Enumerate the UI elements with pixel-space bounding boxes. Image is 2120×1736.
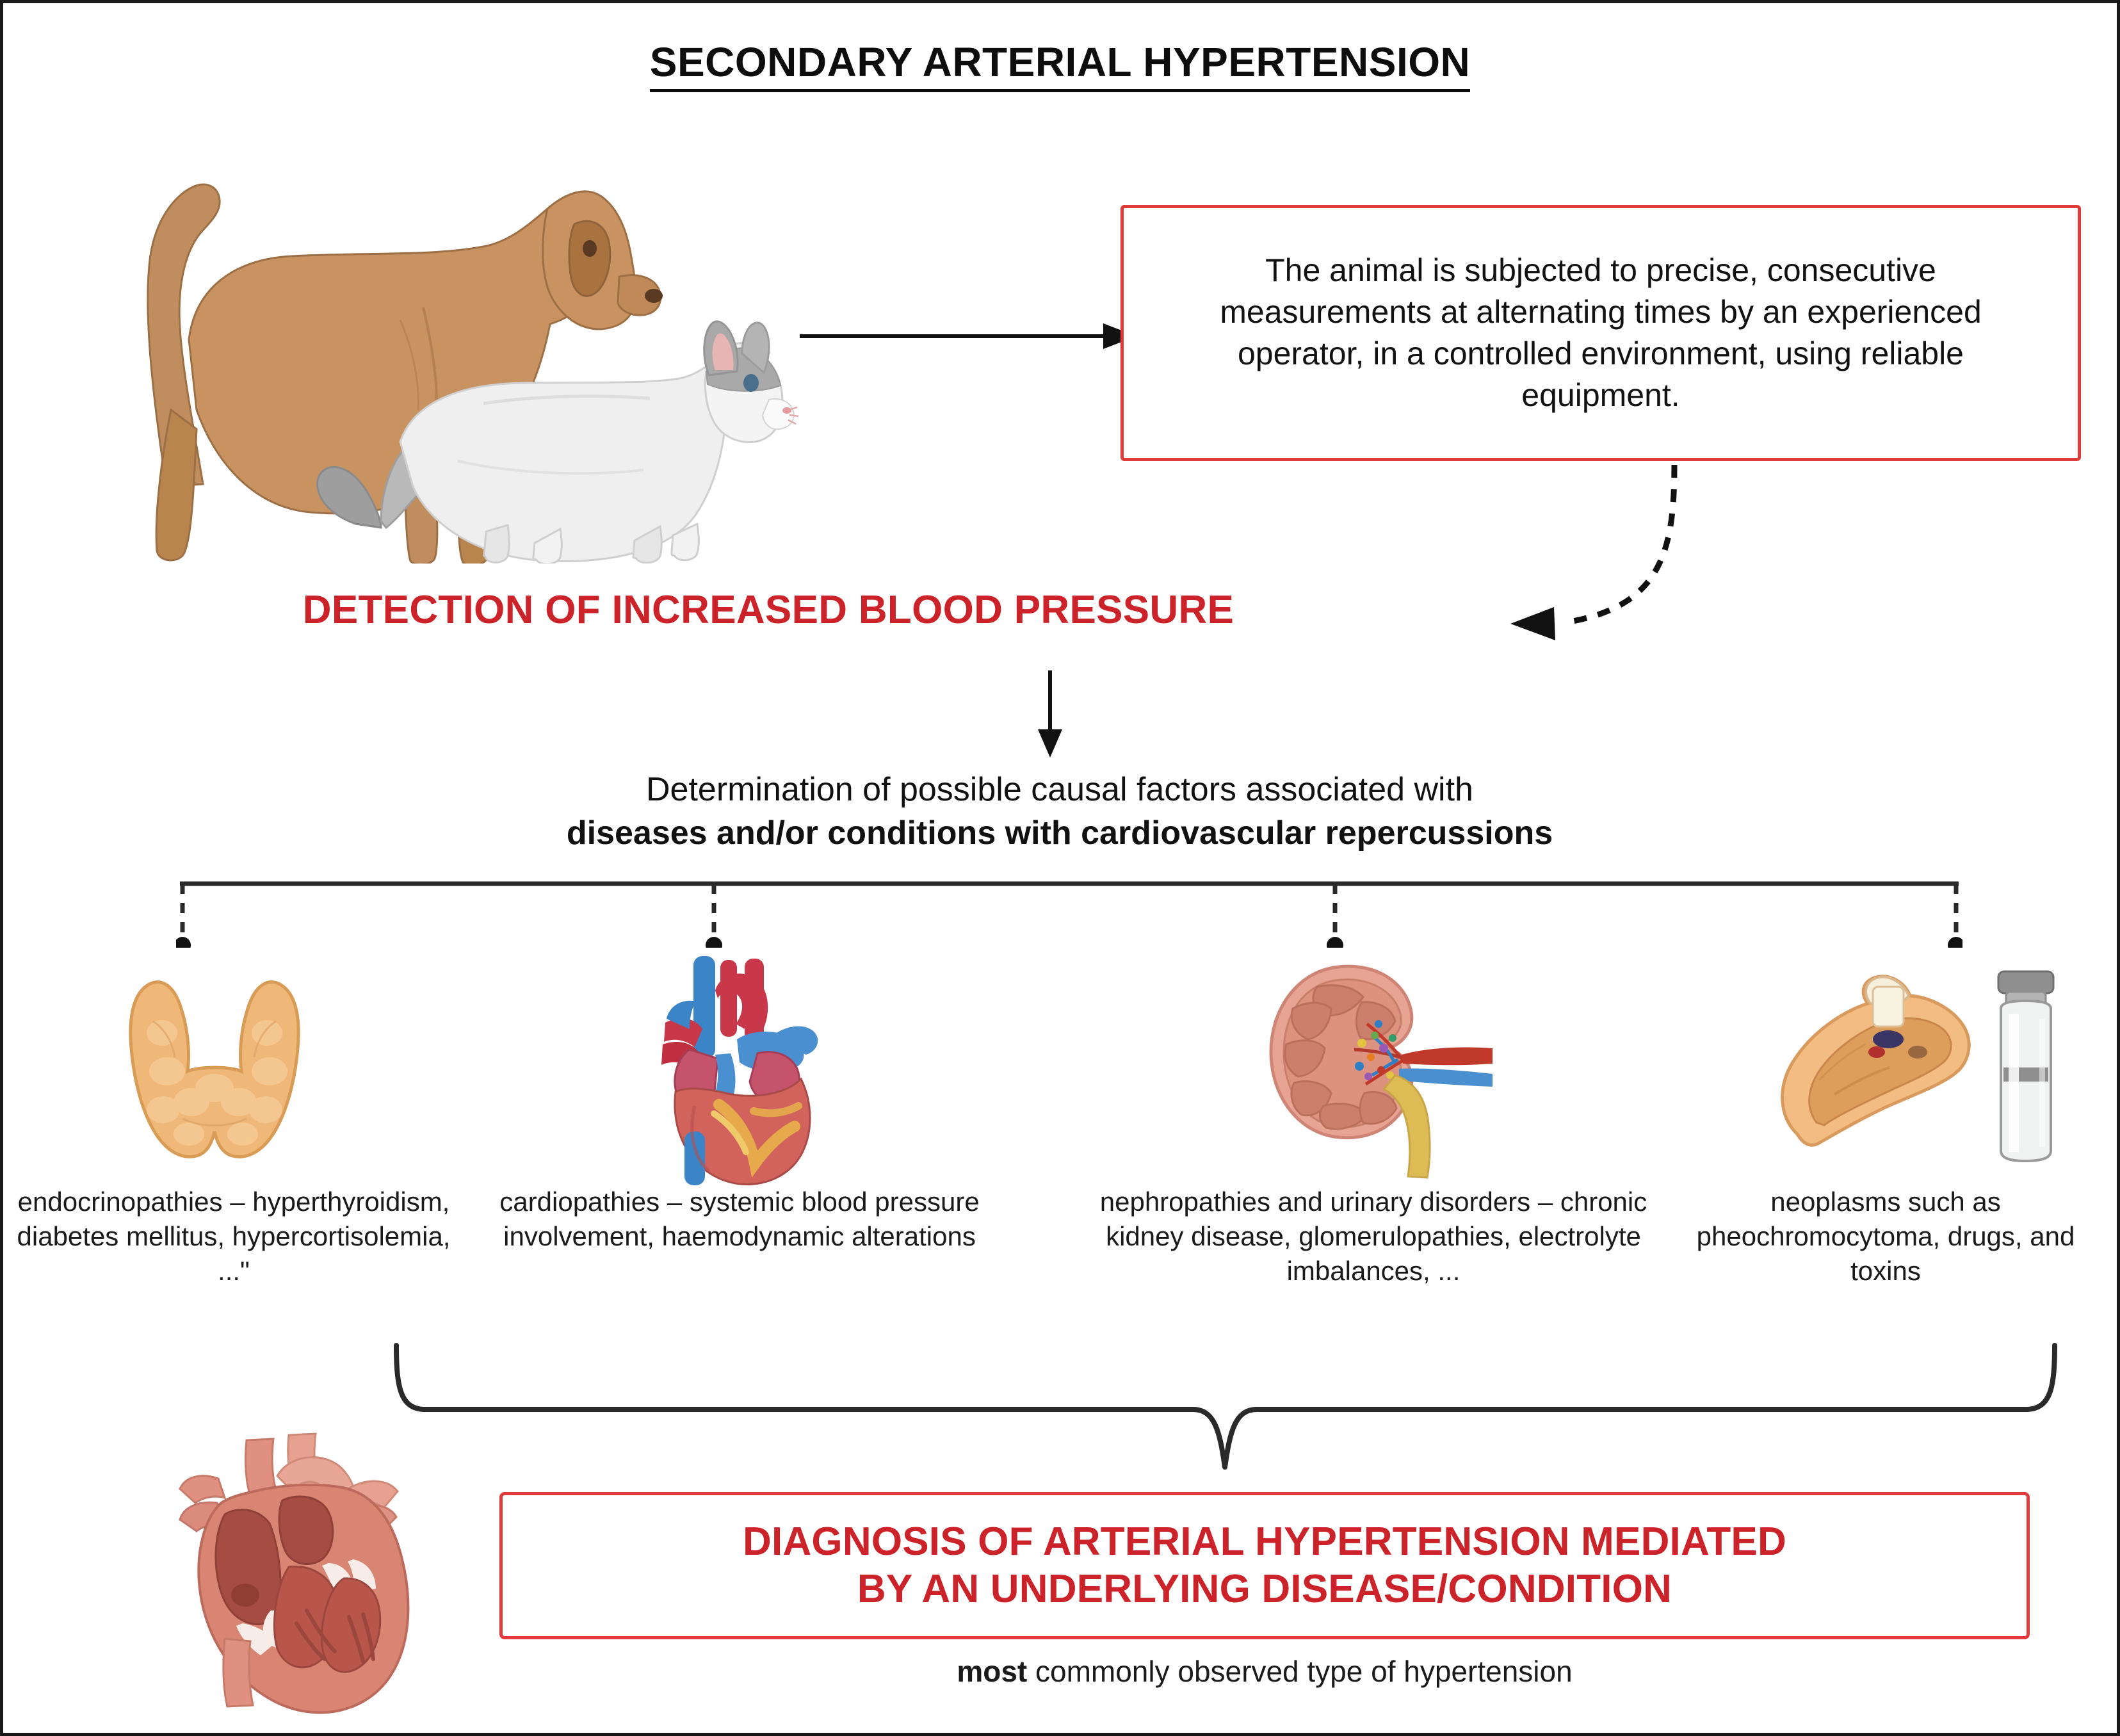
organ-icon-row: [3, 939, 2116, 1208]
anatomical-heart-icon: [618, 946, 848, 1189]
adrenal-gland-shape: [1783, 977, 1970, 1145]
page-title: SECONDARY ARTERIAL HYPERTENSION: [3, 38, 2117, 86]
measurement-info-box: The animal is subjected to precise, cons…: [1121, 205, 2081, 461]
category-caption-cardiopathies: cardiopathies – systemic blood pressure …: [490, 1185, 989, 1254]
heart-cross-section-illustration: [163, 1431, 464, 1726]
diagnosis-note: most commonly observed type of hypertens…: [499, 1654, 2030, 1689]
determination-text: Determination of possible causal factors…: [3, 768, 2116, 855]
dog-eye: [583, 240, 597, 257]
diagnosis-note-emphasis: most: [957, 1655, 1027, 1688]
diagnosis-line-2: BY AN UNDERLYING DISEASE/CONDITION: [743, 1566, 1786, 1613]
curly-brace-connector: [387, 1342, 2065, 1482]
category-caption-endocrinopathies: endocrinopathies – hyperthyroidism, diab…: [10, 1185, 458, 1288]
dashed-bracket-connector: [176, 864, 1962, 948]
category-caption-nephropathies: nephropathies and urinary disorders – ch…: [1072, 1185, 1674, 1288]
medicine-vial-shape: [1998, 971, 2053, 1161]
cat-eye: [743, 374, 759, 392]
medulla-lesion-red: [1868, 1046, 1885, 1058]
diagram-canvas: SECONDARY ARTERIAL HYPERTENSION: [0, 0, 2120, 1736]
determination-line-1: Determination of possible causal factors…: [3, 768, 2116, 812]
dog-nose: [645, 289, 663, 303]
category-caption-neoplasms: neoplasms such as pheochromocytoma, drug…: [1687, 1185, 2084, 1288]
renal-artery: [1402, 1047, 1493, 1065]
arrow-detection-to-determination: [1015, 669, 1085, 759]
dog-and-cat-illustration: [99, 128, 829, 564]
diagnosis-note-rest: commonly observed type of hypertension: [1027, 1655, 1572, 1688]
thyroid-gland-icon: [86, 951, 343, 1181]
detection-headline: DETECTION OF INCREASED BLOOD PRESSURE: [3, 587, 1533, 633]
diagnosis-text: DIAGNOSIS OF ARTERIAL HYPERTENSION MEDIA…: [743, 1518, 1786, 1614]
page-title-text: SECONDARY ARTERIAL HYPERTENSION: [650, 39, 1470, 92]
determination-line-2: diseases and/or conditions with cardiova…: [3, 812, 2116, 856]
arrow-to-info-box: [797, 311, 1143, 362]
cat-nose: [782, 407, 791, 414]
kidney-icon: [1258, 947, 1501, 1184]
measurement-info-text: The animal is subjected to precise, cons…: [1161, 250, 2041, 416]
diagnosis-line-1: DIAGNOSIS OF ARTERIAL HYPERTENSION MEDIA…: [743, 1518, 1786, 1566]
adrenal-gland-and-vial-icon: [1758, 942, 2097, 1198]
diagnosis-box: DIAGNOSIS OF ARTERIAL HYPERTENSION MEDIA…: [499, 1492, 2030, 1639]
ureter: [1384, 1075, 1430, 1178]
medulla-lesion-dark: [1873, 1030, 1904, 1048]
